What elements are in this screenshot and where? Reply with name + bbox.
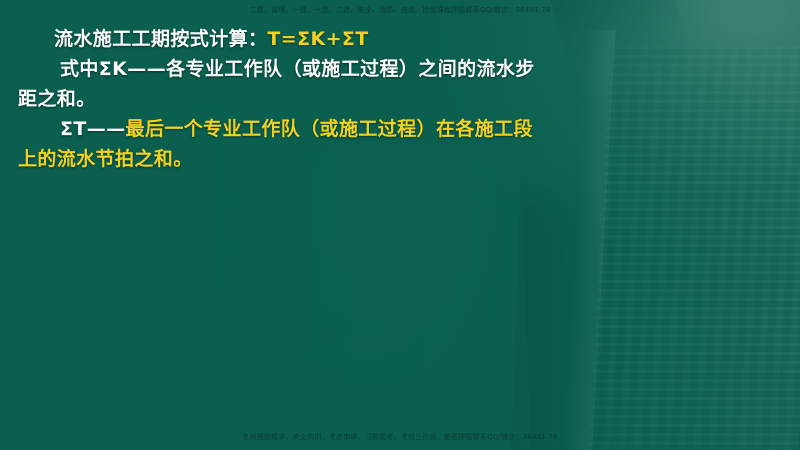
tower-right bbox=[589, 46, 800, 450]
tower-mid bbox=[521, 186, 604, 450]
tower-mid-back bbox=[511, 168, 567, 450]
line-3-text: 距之和。 bbox=[18, 88, 96, 110]
text-line-5: 上的流水节拍之和。 bbox=[18, 144, 585, 174]
line-4-symbol: ΣT—— bbox=[60, 118, 126, 140]
slide-body-text: 流水施工工期按式计算：T=ΣK+ΣT 式中ΣK——各专业工作队（或施工过程）之间… bbox=[0, 24, 585, 174]
line-2-text: 式中ΣK——各专业工作队（或施工过程）之间的流水步 bbox=[60, 58, 535, 80]
bottom-advertisement-banner: 名师面授精华、央企内训、考点串讲、习题模考、考前三页纸、绝密押题联系QQ/微信：… bbox=[0, 434, 800, 442]
line-1-formula: T=ΣK+ΣT bbox=[267, 28, 368, 50]
text-line-1: 流水施工工期按式计算：T=ΣK+ΣT bbox=[18, 24, 585, 54]
text-line-2: 式中ΣK——各专业工作队（或施工过程）之间的流水步 bbox=[18, 54, 585, 84]
line-5-text: 上的流水节拍之和。 bbox=[18, 148, 193, 170]
top-advertisement-banner: 二建、监理、一建、一造、二造、安全、消防、咨询、检测课程押题联系QQ/微信：38… bbox=[0, 7, 800, 15]
watermark-shape-3 bbox=[300, 150, 530, 450]
line-4-text: 最后一个专业工作队（或施工过程）在各施工段 bbox=[126, 118, 533, 140]
slide-canvas: 二建、监理、一建、一造、二造、安全、消防、咨询、检测课程押题联系QQ/微信：38… bbox=[0, 0, 800, 450]
text-line-3: 距之和。 bbox=[18, 84, 585, 114]
line-1-title: 流水施工工期按式计算： bbox=[54, 28, 267, 50]
text-line-4: ΣT——最后一个专业工作队（或施工过程）在各施工段 bbox=[18, 114, 585, 144]
